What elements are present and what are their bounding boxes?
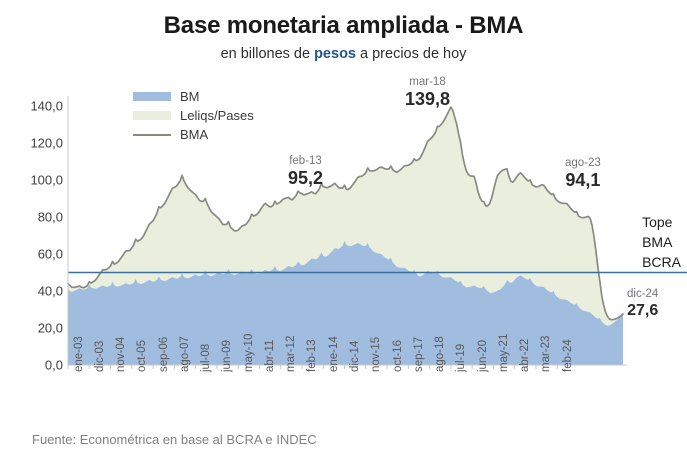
chart-annotation: feb-1395,2 <box>288 155 323 188</box>
annotation-date: mar-18 <box>405 76 450 89</box>
tope-line-2: BMA <box>642 232 681 252</box>
chart-annotation: dic-2427,6 <box>627 288 658 321</box>
x-axis-tick-label: nov-15 <box>370 337 382 372</box>
x-axis-tick-label: ene-03 <box>73 336 85 372</box>
tope-line-1: Tope <box>642 212 681 232</box>
annotation-date: dic-24 <box>627 288 658 301</box>
x-axis-tick-label: dic-14 <box>349 341 361 372</box>
x-axis-tick-label: may-10 <box>243 334 255 372</box>
x-axis-tick-label: mar-12 <box>285 336 297 372</box>
chart-annotation: ago-2394,1 <box>565 157 601 190</box>
x-axis-tick-label: ago-18 <box>434 336 446 372</box>
x-axis-tick-label: jun-20 <box>477 340 489 372</box>
x-axis-tick-label: abr-22 <box>519 339 531 372</box>
x-axis-tick-label: abr-11 <box>264 340 276 372</box>
annotation-value: 139,8 <box>405 89 450 109</box>
x-axis-tick-label: dic-03 <box>94 341 106 372</box>
annotation-date: ago-23 <box>565 157 601 170</box>
annotation-date: feb-13 <box>288 155 323 168</box>
source-note: Fuente: Econométrica en base al BCRA e I… <box>32 432 317 447</box>
x-axis-tick-label: feb-13 <box>306 339 318 372</box>
annotation-value: 95,2 <box>288 168 323 188</box>
x-axis-tick-label: ago-07 <box>179 336 191 372</box>
x-axis-tick-label: sep-06 <box>158 337 170 372</box>
x-axis-tick-label: oct-16 <box>392 340 404 372</box>
chart-container: Base monetaria ampliada - BMA en billone… <box>0 0 687 461</box>
x-axis-tick-label: mar-23 <box>540 336 552 372</box>
chart-annotation: mar-18139,8 <box>405 76 450 109</box>
x-axis-tick-label: nov-04 <box>115 337 127 372</box>
tope-bma-bcra-label: Tope BMA BCRA <box>642 212 681 272</box>
x-axis-tick-label: sep-17 <box>413 337 425 372</box>
x-axis-tick-label: jul-19 <box>455 344 467 372</box>
x-axis-tick-label: feb-24 <box>562 339 574 372</box>
annotation-value: 27,6 <box>627 301 658 321</box>
annotation-value: 94,1 <box>565 170 601 190</box>
x-axis-tick-label: ene-14 <box>328 336 340 372</box>
x-axis-tick-label: jun-09 <box>221 340 233 372</box>
x-axis-tick-label: jul-08 <box>200 344 212 372</box>
tope-line-3: BCRA <box>642 252 681 272</box>
x-axis-tick-label: may-21 <box>498 334 510 372</box>
x-axis-tick-label: oct-05 <box>136 340 148 372</box>
x-axis: ene-03dic-03nov-04oct-05sep-06ago-07jul-… <box>0 0 687 461</box>
